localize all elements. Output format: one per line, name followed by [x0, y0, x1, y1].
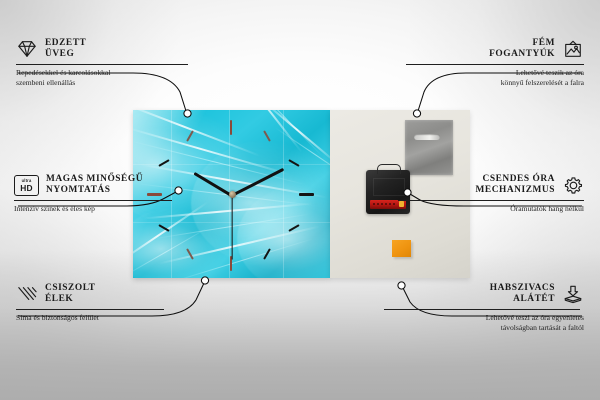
callout-rule — [398, 200, 584, 201]
gear-icon — [562, 175, 584, 195]
callout-desc-line2: szembeni ellenállás — [16, 78, 206, 87]
callout-edzett-uveg[interactable]: EDZETT ÜVEG Repedésekkel és karcolásokka… — [16, 38, 206, 87]
foam-pad-arrow-icon — [562, 284, 584, 304]
callout-title-line1: CSENDES ÓRA — [476, 174, 556, 185]
polished-edges-icon — [16, 284, 38, 304]
callout-title-line2: NYOMTATÁS — [46, 185, 143, 196]
callout-desc-line2: könnyű felszerelését a falra — [394, 78, 584, 87]
callout-desc-line1: Repedésekkel és karcolásokkal — [16, 68, 206, 77]
callout-desc-line1: Lehetővé teszik az óra — [394, 68, 584, 77]
ultra-hd-icon-main: HD — [20, 184, 33, 192]
callout-csendes-ora-mechanizmus[interactable]: CSENDES ÓRA MECHANIZMUS Óramutatók hang … — [394, 174, 584, 214]
infographic-canvas: EDZETT ÜVEG Repedésekkel és karcolásokka… — [0, 0, 600, 400]
callout-title-line1: EDZETT — [45, 38, 86, 49]
callout-magas-minosegu-nyomtatas[interactable]: ultra HD MAGAS MINŐSÉGŰ NYOMTATÁS Intenz… — [14, 174, 204, 214]
callout-title-line1: CSISZOLT — [45, 283, 95, 294]
ultra-hd-icon: ultra HD — [14, 175, 39, 196]
callout-rule — [16, 64, 188, 65]
picture-hanger-icon — [562, 39, 584, 59]
callout-title-line1: FÉM — [489, 38, 555, 49]
callout-rule — [406, 64, 584, 65]
diamond-icon — [16, 39, 38, 59]
callout-rule — [16, 309, 164, 310]
callout-habszivacs-alatet[interactable]: HABSZIVACS ALÁTÉT Lehetővé teszi az óra … — [384, 283, 584, 332]
callout-title-line2: ALÁTÉT — [490, 294, 555, 305]
callout-title-line1: MAGAS MINŐSÉGŰ — [46, 174, 143, 185]
callout-rule — [384, 309, 580, 310]
callout-title-line1: HABSZIVACS — [490, 283, 555, 294]
callout-desc-line2: távolságban tartását a faltól — [384, 323, 584, 332]
callout-desc-line1: Lehetővé teszi az óra egyenletes — [384, 313, 584, 322]
callout-title-line2: ÉLEK — [45, 294, 95, 305]
callout-desc-line1: Intenzív színek és éles kép — [14, 204, 204, 213]
callout-desc-line1: Óramutatók hang nélkül — [394, 204, 584, 213]
callout-title-line2: ÜVEG — [45, 49, 86, 60]
callout-csiszolt-elek[interactable]: CSISZOLT ÉLEK Sima és biztonságos felüle… — [16, 283, 206, 323]
callout-desc-line1: Sima és biztonságos felület — [16, 313, 206, 322]
callout-title-line2: FOGANTYÚK — [489, 49, 555, 60]
callout-fem-fogantyuk[interactable]: FÉM FOGANTYÚK Lehetővé teszik az óra kön… — [394, 38, 584, 87]
callout-rule — [14, 200, 172, 201]
callout-title-line2: MECHANIZMUS — [476, 185, 556, 196]
